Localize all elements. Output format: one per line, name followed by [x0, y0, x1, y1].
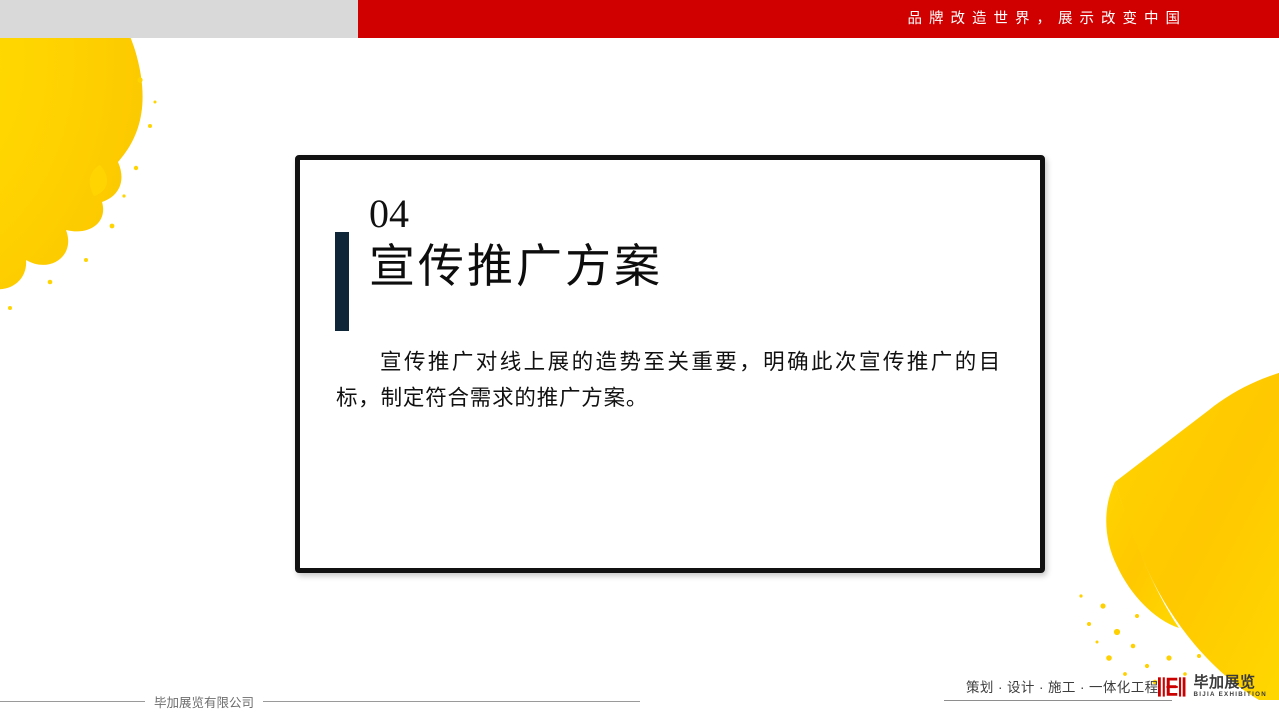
- top-header-bar: 品牌改造世界，展示改变中国: [0, 0, 1279, 38]
- section-number: 04: [369, 193, 663, 235]
- watercolor-brush-bottom-right-icon: [1059, 370, 1279, 700]
- footer-right-rule: [944, 700, 1172, 701]
- section-title: 宣传推广方案: [369, 237, 663, 295]
- section-accent-bar: [335, 232, 349, 331]
- header-gray-panel: [0, 0, 358, 38]
- brand-logo-footer-text: 毕加展览 BIJIA EXHIBITION: [1193, 675, 1267, 698]
- watercolor-brush-top-left-icon: [0, 0, 180, 350]
- footer-left-rule-end: [263, 701, 640, 702]
- section-content-box: 04 宣传推广方案 宣传推广对线上展的造势至关重要，明确此次宣传推广的目标，制定…: [295, 155, 1045, 573]
- footer-right: 策划 · 设计 · 施工 · 一体化工程 毕加展览 BIJIA EXHIBITI…: [944, 674, 1279, 720]
- footer-left: 毕加展览有限公司: [0, 691, 640, 711]
- brand-logo-footer: 毕加展览 BIJIA EXHIBITION: [1158, 675, 1267, 698]
- footer-company-name: 毕加展览有限公司: [154, 692, 254, 711]
- footer-left-rule-start: [0, 701, 145, 702]
- section-title-texts: 04 宣传推广方案: [369, 193, 663, 331]
- brand-name-cn-footer: 毕加展览: [1193, 675, 1267, 690]
- section-title-row: 04 宣传推广方案: [335, 193, 663, 331]
- bijia-logo-mark-footer-icon: [1158, 676, 1186, 698]
- section-body-paragraph: 宣传推广对线上展的造势至关重要，明确此次宣传推广的目标，制定符合需求的推广方案。: [336, 345, 1001, 417]
- header-slogan: 品牌改造世界，展示改变中国: [908, 0, 1188, 38]
- footer-services: 策划 · 设计 · 施工 · 一体化工程: [966, 676, 1159, 696]
- brand-name-en-footer: BIJIA EXHIBITION: [1193, 692, 1267, 698]
